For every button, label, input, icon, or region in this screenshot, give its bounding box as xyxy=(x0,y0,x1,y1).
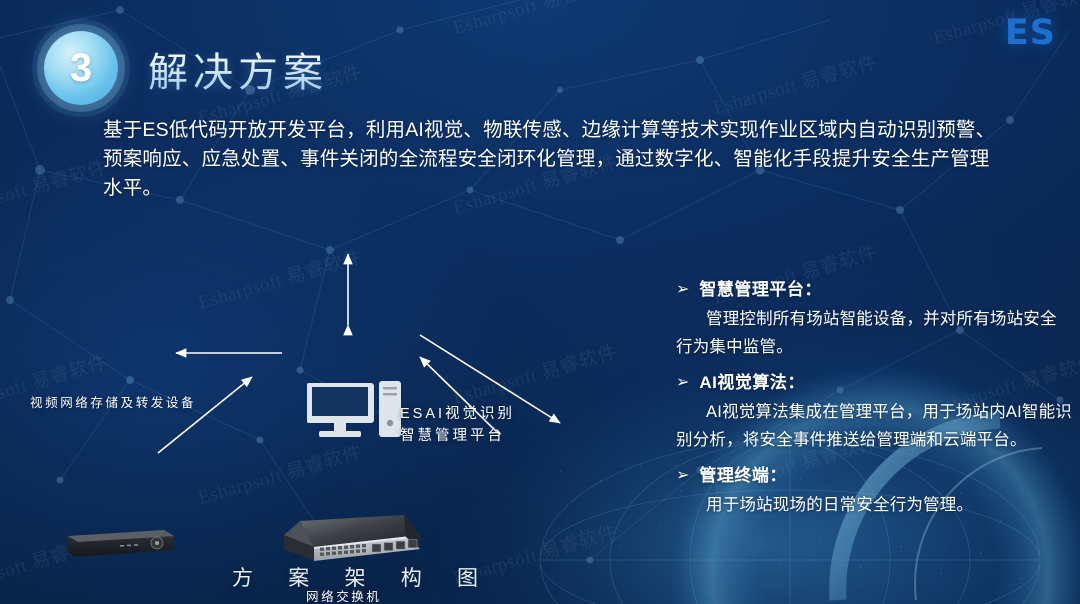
watermark-text: Esharpsoft 易睿软件 xyxy=(450,0,620,40)
bullet-header: ➢ 管理终端： xyxy=(676,464,1072,488)
nvr-label: 视频网络存储及转发设备 xyxy=(30,392,196,411)
platform-label-line2: 智慧管理平台 xyxy=(400,425,515,447)
chevron-right-icon: ➢ xyxy=(676,278,689,302)
bullet-body: 用于场站现场的日常安全行为管理。 xyxy=(676,491,1072,519)
architecture-diagram: ESAI视觉识别 智慧管理平台 xyxy=(0,185,660,604)
slide-root: Esharpsoft 易睿软件 Esharpsoft 易睿软件 Esharpso… xyxy=(0,0,1080,604)
bullet-item: ➢ AI视觉算法： AI视觉算法集成在管理平台，用于场站内AI智能识别分析，将安… xyxy=(676,371,1072,454)
nvr-device-icon xyxy=(62,527,176,561)
chevron-right-icon: ➢ xyxy=(676,464,689,488)
watermark-text: Esharpsoft 易睿软件 xyxy=(710,47,880,120)
bullet-body: 管理控制所有场站智能设备，并对所有场站安全行为集中监管。 xyxy=(676,305,1072,361)
bullet-item: ➢ 管理终端： 用于场站现场的日常安全行为管理。 xyxy=(676,464,1072,519)
step-number-label: 3 xyxy=(70,48,92,88)
diagram-caption: 方 案 架 构 图 xyxy=(232,562,493,592)
bullet-title: 管理终端： xyxy=(699,464,787,488)
step-number-badge: 3 xyxy=(44,31,118,105)
bullet-body: AI视觉算法集成在管理平台，用于场站内AI智能识别分析，将安全事件推送给管理端和… xyxy=(676,398,1072,454)
es-logo: ES xyxy=(1005,13,1056,53)
bullet-header: ➢ 智慧管理平台： xyxy=(676,278,1072,302)
chevron-right-icon: ➢ xyxy=(676,371,689,395)
page-title: 解决方案 xyxy=(148,40,328,98)
bullet-title: 智慧管理平台： xyxy=(699,278,822,302)
bullet-header: ➢ AI视觉算法： xyxy=(676,371,1072,395)
bullet-item: ➢ 智慧管理平台： 管理控制所有场站智能设备，并对所有场站安全行为集中监管。 xyxy=(676,278,1072,361)
workstation-icon xyxy=(307,381,403,441)
platform-label-line1: ESAI视觉识别 xyxy=(400,403,515,425)
bullet-title: AI视觉算法： xyxy=(699,371,805,395)
platform-label: ESAI视觉识别 智慧管理平台 xyxy=(400,403,515,447)
bullet-list: ➢ 智慧管理平台： 管理控制所有场站智能设备，并对所有场站安全行为集中监管。 ➢… xyxy=(676,278,1072,529)
